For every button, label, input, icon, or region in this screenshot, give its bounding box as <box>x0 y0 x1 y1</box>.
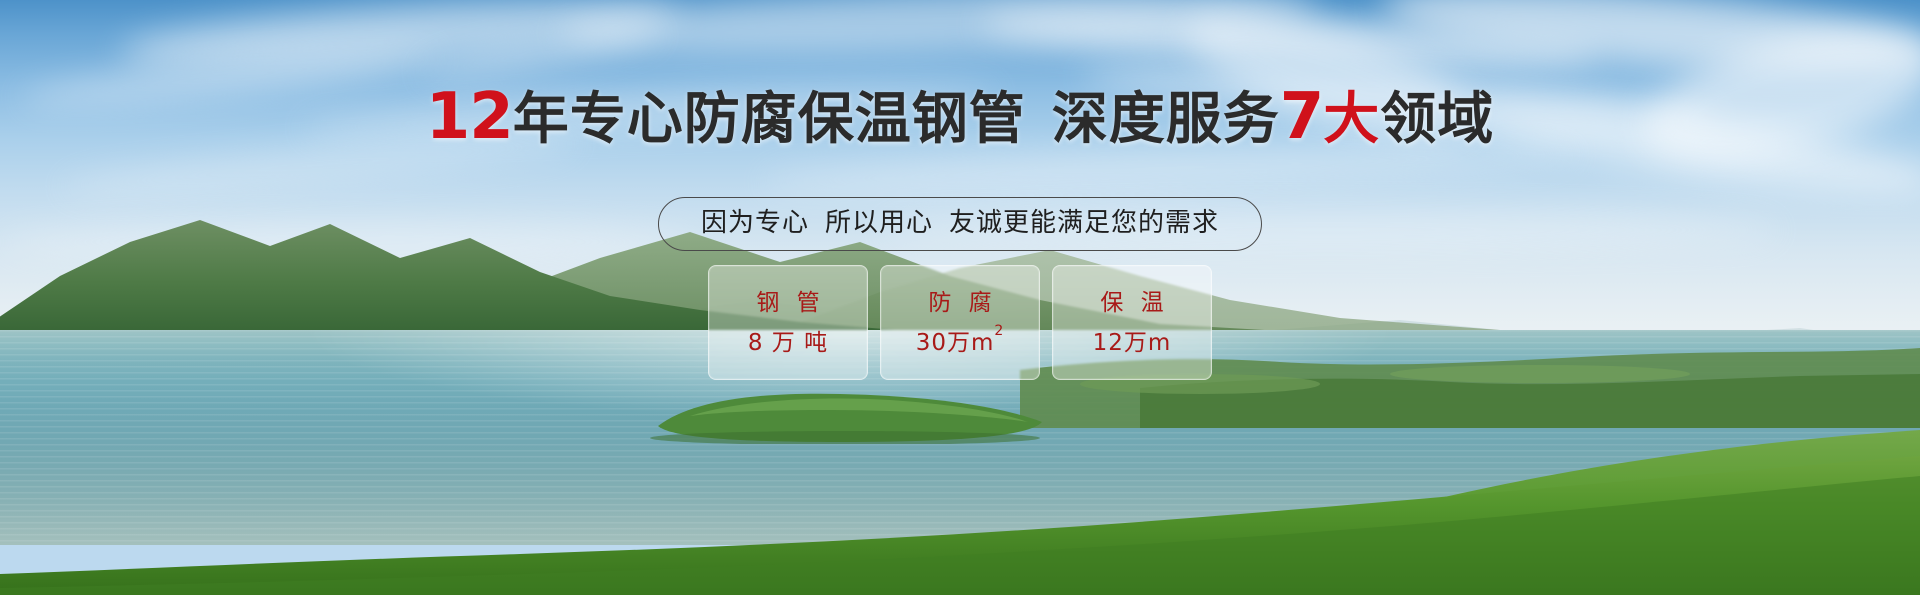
stat-card-value: 8 万 吨 <box>748 330 828 356</box>
grass-island <box>630 386 1060 444</box>
stat-card-value-superscript: 2 <box>994 323 1004 339</box>
headline-text-tail: 领域 <box>1380 87 1494 152</box>
stat-card-insulation[interactable]: 保 温 12万m <box>1052 265 1212 380</box>
headline-text-primary: 年专心防腐保温钢管 <box>513 87 1026 152</box>
banner-headline: 12年专心防腐保温钢管深度服务7大领域 <box>0 84 1920 153</box>
headline-years-number: 12 <box>426 80 513 154</box>
headline-text-secondary: 深度服务 <box>1052 87 1280 152</box>
grass-meadow-foreground <box>0 448 1920 595</box>
stat-card-title: 保 温 <box>1095 290 1168 316</box>
stat-card-value-text: 12万m <box>1093 330 1172 356</box>
subtitle-part-1: 因为专心 <box>701 208 809 238</box>
subtitle-pill: 因为专心所以用心友诚更能满足您的需求 <box>658 197 1262 251</box>
headline-fields-number: 7 <box>1280 80 1324 154</box>
stat-card-value-text: 30万m <box>916 330 995 356</box>
stat-card-title: 防 腐 <box>923 290 996 316</box>
stat-card-anticorrosion[interactable]: 防 腐 30万m2 <box>880 265 1040 380</box>
headline-fields-unit: 大 <box>1323 87 1380 152</box>
subtitle-part-2: 所以用心 <box>825 208 933 238</box>
hero-banner: 12年专心防腐保温钢管深度服务7大领域 因为专心所以用心友诚更能满足您的需求 钢… <box>0 0 1920 595</box>
stat-card-value: 12万m <box>1093 330 1172 356</box>
stat-card-value: 30万m2 <box>916 330 1005 356</box>
stat-card-title: 钢 管 <box>751 290 824 316</box>
subtitle-part-3: 友诚更能满足您的需求 <box>949 208 1219 238</box>
stat-card-group: 钢 管 8 万 吨 防 腐 30万m2 保 温 12万m <box>708 265 1212 380</box>
stat-card-steel-pipe[interactable]: 钢 管 8 万 吨 <box>708 265 868 380</box>
stat-card-value-text: 8 万 吨 <box>748 330 828 356</box>
